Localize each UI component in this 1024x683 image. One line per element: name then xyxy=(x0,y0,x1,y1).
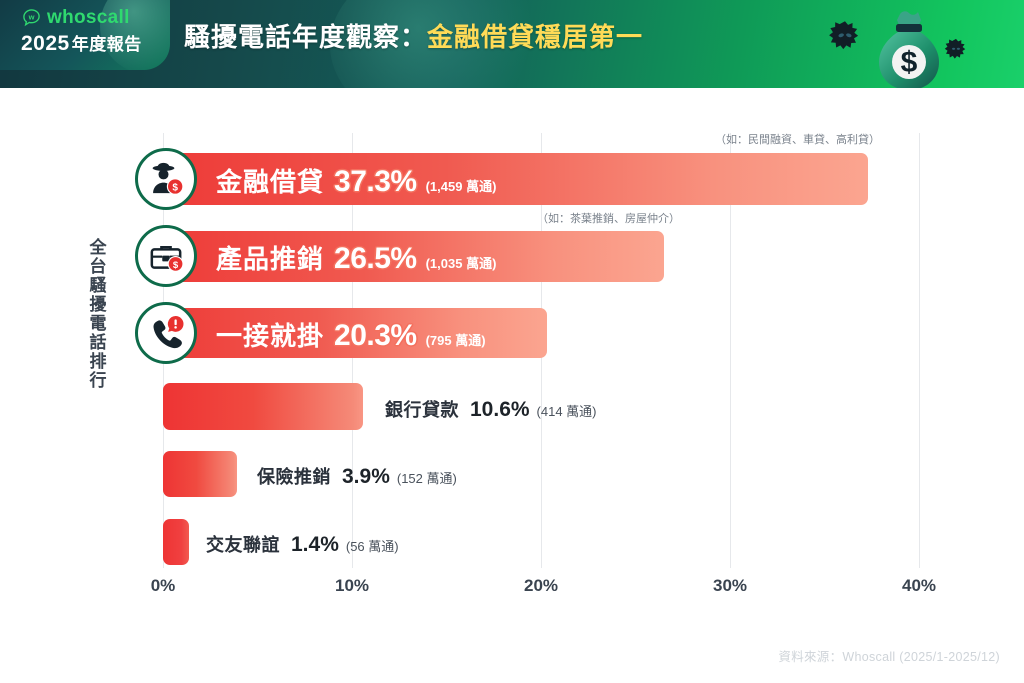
bar-5[interactable] xyxy=(163,519,189,565)
x-tick-1: 10% xyxy=(335,576,369,596)
bar-pct-4: 3.9% xyxy=(342,465,390,489)
bar-3[interactable] xyxy=(163,383,363,430)
bar-name-5: 交友聯誼 xyxy=(206,531,280,557)
bar-note-1: （如：茶葉推銷、房屋仲介） xyxy=(537,210,680,226)
logo-subtitle-text: 年度報告 xyxy=(72,35,142,54)
bar-count-0: (1,459 萬通) xyxy=(426,176,497,195)
page-title: 騷擾電話年度觀察：金融借貸穩居第一 xyxy=(184,17,643,54)
bar-label-3: 銀行貸款 10.6% (414 萬通) xyxy=(385,396,597,422)
bar-name-0: 金融借貸 xyxy=(216,162,324,199)
money-bag-dollar-icon: $ xyxy=(872,8,946,88)
logo-row: w whoscall xyxy=(22,8,130,27)
virus-spike-icon xyxy=(828,20,862,54)
x-tick-2: 20% xyxy=(524,576,558,596)
y-axis-caption: 全台騷擾電話排行 xyxy=(86,238,112,390)
bar-4[interactable] xyxy=(163,451,237,497)
bar-pct-1: 26.5% xyxy=(334,242,417,276)
bar-name-1: 產品推銷 xyxy=(216,239,324,276)
bar-count-1: (1,035 萬通) xyxy=(426,253,497,272)
bar-count-3: (414 萬通) xyxy=(537,401,597,420)
svg-text:w: w xyxy=(28,13,35,22)
page-header: w whoscall 2025年度報告 騷擾電話年度觀察：金融借貸穩居第一 xyxy=(0,0,1024,88)
source-note: 資料來源：Whoscall (2025/1-2025/12) xyxy=(778,646,1000,665)
bar-name-4: 保險推銷 xyxy=(257,463,331,489)
svg-text:$: $ xyxy=(172,183,178,194)
bar-label-4: 保險推銷 3.9% (152 萬通) xyxy=(257,463,457,489)
bar-label-0: 金融借貸 37.3% (1,459 萬通) xyxy=(216,162,496,199)
x-axis-labels: 0% 10% 20% 30% 40% xyxy=(163,576,919,604)
plot-area: （如：民間融資、車貸、高利貸） $ 金融借貸 37.3% (1,459 萬通) xyxy=(163,133,919,568)
x-tick-4: 40% xyxy=(902,576,936,596)
bar-count-2: (795 萬通) xyxy=(426,330,486,349)
whoscall-speech-bubble-icon: w xyxy=(22,8,41,27)
page-title-main: 騷擾電話年度觀察： xyxy=(184,22,427,52)
gridline-40 xyxy=(919,133,920,568)
briefcase-dollar-icon: $ xyxy=(135,225,197,287)
bar-name-2: 一接就掛 xyxy=(216,316,324,353)
x-tick-3: 30% xyxy=(713,576,747,596)
svg-text:$: $ xyxy=(901,46,918,79)
bar-pct-3: 10.6% xyxy=(470,398,530,422)
x-tick-0: 0% xyxy=(151,576,176,596)
whoscall-logo-badge[interactable]: w whoscall 2025年度報告 xyxy=(0,0,170,70)
logo-subtitle-year: 2025 xyxy=(21,32,70,55)
bar-pct-0: 37.3% xyxy=(334,165,417,199)
bar-count-5: (56 萬通) xyxy=(346,536,399,555)
bar-count-4: (152 萬通) xyxy=(397,468,457,487)
spy-person-dollar-icon: $ xyxy=(135,148,197,210)
chart-area: 全台騷擾電話排行 （如：民間融資、車貸、高利貸） $ xyxy=(0,88,1024,683)
bar-label-5: 交友聯誼 1.4% (56 萬通) xyxy=(206,531,399,557)
bar-note-0: （如：民間融資、車貸、高利貸） xyxy=(715,131,880,147)
bar-pct-5: 1.4% xyxy=(291,533,339,557)
logo-subtitle: 2025年度報告 xyxy=(21,32,142,55)
logo-wordmark: whoscall xyxy=(47,8,130,27)
bar-name-3: 銀行貸款 xyxy=(385,396,459,422)
svg-text:$: $ xyxy=(173,260,179,271)
bar-pct-2: 20.3% xyxy=(334,319,417,353)
phone-alert-icon xyxy=(135,302,197,364)
virus-spike-small-icon xyxy=(944,38,968,62)
bar-label-2: 一接就掛 20.3% (795 萬通) xyxy=(216,316,486,353)
bar-label-1: 產品推銷 26.5% (1,035 萬通) xyxy=(216,239,496,276)
page-title-accent: 金融借貸穩居第一 xyxy=(427,22,643,52)
